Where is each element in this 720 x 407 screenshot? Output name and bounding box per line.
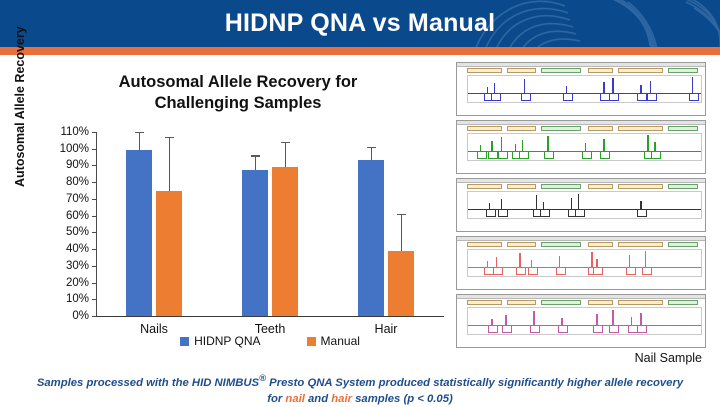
legend-label: HIDNP QNA [194,334,260,348]
egram-locus-segment [668,68,698,73]
egram-allele-callout [544,151,554,159]
egram-locus-segment [668,184,698,189]
caption-line2-b: and [305,393,331,405]
blue-dye-trace [456,62,706,116]
x-axis-line [96,316,444,317]
caption-line2-a: for [267,393,285,405]
egram-peak [612,78,613,94]
egram-locus-segment [668,126,698,131]
legend-item-manual: Manual [307,334,360,348]
y-axis-tick-label: 40% [66,243,89,255]
egram-locus-segment [618,242,663,247]
y-axis-tick-label: 20% [66,277,89,289]
caption-line2-c: samples (p < 0.05) [352,393,453,405]
egram-allele-callout [488,325,498,333]
egram-locus-segment [588,68,613,73]
error-bar [255,155,256,170]
caption-line1-a: Samples processed with the HID NIMBUS [37,377,259,389]
y-axis-line [96,132,97,316]
egram-marker-bar [457,126,705,131]
registered-mark-icon: ® [259,372,266,383]
error-bar [139,132,140,150]
bar-teeth-manual [272,167,298,316]
y-axis-tick [92,283,96,284]
egram-locus-segment [467,242,502,247]
egram-allele-callout [477,151,487,159]
egram-locus-segment [668,300,698,305]
egram-allele-callout [521,93,531,101]
bar-nails-qna [126,150,152,316]
egram-locus-segment [541,242,581,247]
egram-locus-segment [541,126,581,131]
legend-swatch [307,337,316,346]
error-bar [371,147,372,160]
green-dye-trace [456,120,706,174]
egram-locus-segment [588,184,613,189]
y-axis-tick-label: 80% [66,176,89,188]
error-bar-cap [367,147,376,148]
bar-hair-manual [388,251,414,316]
egram-header-bar [457,237,705,241]
egram-locus-segment [507,184,537,189]
egram-header-bar [457,63,705,67]
egram-plot [467,133,702,161]
egram-peak [501,137,502,152]
egram-peak [547,136,548,152]
egram-allele-callout [530,325,540,333]
bar-teeth-qna [242,170,268,316]
egram-locus-segment [618,184,663,189]
egram-locus-segment [507,242,537,247]
y-axis-tick-label: 90% [66,159,89,171]
legend-label: Manual [321,334,360,348]
caption-highlight-nail: nail [285,393,304,405]
error-bar [169,137,170,191]
red-dye-trace [456,236,706,290]
egram-marker-bar [457,184,705,189]
egram-allele-callout [651,151,661,159]
egram-locus-segment [618,68,663,73]
egram-allele-callout [519,151,529,159]
egram-header-bar [457,179,705,183]
y-axis-tick [92,216,96,217]
chart-title-line1: Autosomal Allele Recovery for [68,72,408,93]
egram-marker-bar [457,68,705,73]
egram-allele-callout [647,93,657,101]
egram-allele-callout [600,151,610,159]
egram-locus-segment [541,184,581,189]
chart-legend: HIDNP QNAManual [96,334,444,348]
egram-allele-callout [609,93,619,101]
y-axis-title: Autosomal Allele Recovery [13,26,27,187]
egram-allele-callout [593,267,603,275]
slide-caption: Samples processed with the HID NIMBUS® P… [14,371,706,407]
black-dye-trace [456,178,706,232]
egram-locus-segment [507,68,537,73]
error-bar-cap [135,132,144,133]
error-bar [285,142,286,167]
bar-hair-qna [358,160,384,316]
egram-baseline [468,93,701,94]
egram-locus-segment [618,126,663,131]
egram-locus-segment [588,300,613,305]
header-orange-rule [0,47,720,55]
page-title: HIDNP QNA vs Manual [0,0,720,47]
egram-peak [591,252,592,268]
egram-allele-callout [540,209,550,217]
error-bar-cap [251,155,260,156]
egram-plot [467,249,702,277]
error-bar-cap [281,142,290,143]
y-axis-tick [92,249,96,250]
egram-allele-callout [493,267,503,275]
y-axis-tick [92,266,96,267]
egram-locus-segment [467,126,502,131]
y-axis-tick-label: 50% [66,226,89,238]
egram-locus-segment [507,300,537,305]
error-bar-cap [165,137,174,138]
egram-allele-callout [558,325,568,333]
electropherogram-panel: Nail Sample [456,62,706,349]
egram-plot [467,75,702,103]
egram-plot [467,191,702,219]
sample-label: Nail Sample [456,351,706,365]
y-axis-tick-label: 70% [66,193,89,205]
y-axis-tick-label: 10% [66,293,89,305]
error-bar-cap [397,214,406,215]
caption-highlight-hair: hair [331,393,352,405]
chart-title: Autosomal Allele Recovery for Challengin… [68,72,408,114]
egram-allele-callout [582,151,592,159]
y-axis-tick-label: 60% [66,210,89,222]
egram-peak [612,310,613,326]
egram-peak [533,311,534,326]
egram-allele-callout [516,267,526,275]
egram-allele-callout [637,325,647,333]
y-axis-tick-label: 0% [72,310,89,322]
egram-locus-segment [588,126,613,131]
egram-allele-callout [502,325,512,333]
legend-swatch [180,337,189,346]
y-axis-tick-label: 30% [66,260,89,272]
egram-allele-callout [689,93,699,101]
egram-allele-callout [593,325,603,333]
egram-allele-callout [556,267,566,275]
y-axis-tick [92,199,96,200]
bar-nails-manual [156,191,182,316]
y-axis-tick-label: 110% [60,126,89,138]
egram-locus-segment [507,126,537,131]
y-axis-tick [92,132,96,133]
egram-header-bar [457,121,705,125]
egram-allele-callout [498,151,508,159]
egram-locus-segment [467,184,502,189]
error-bar [401,214,402,251]
caption-line1-b: Presto QNA System produced statistically… [266,377,683,389]
egram-peak [519,253,520,268]
egram-allele-callout [642,267,652,275]
egram-peak [524,79,525,94]
egram-allele-callout [626,267,636,275]
y-axis-tick-label: 100% [60,143,89,155]
y-axis-tick [92,232,96,233]
legend-item-hidnp-qna: HIDNP QNA [180,334,260,348]
egram-peak [647,135,648,152]
y-axis-tick [92,299,96,300]
bar-chart: Autosomal Allele Recovery for Challengin… [18,62,454,367]
egram-marker-bar [457,300,705,305]
y-axis-tick [92,182,96,183]
egram-allele-callout [563,93,573,101]
egram-marker-bar [457,242,705,247]
egram-peak [645,251,646,268]
egram-allele-callout [486,209,496,217]
egram-locus-segment [467,68,502,73]
egram-allele-callout [609,325,619,333]
egram-peak [692,77,693,94]
egram-header-bar [457,295,705,299]
egram-peak [578,194,579,210]
egram-allele-callout [637,209,647,217]
y-axis-tick [92,316,96,317]
egram-locus-segment [618,300,663,305]
egram-locus-segment [467,300,502,305]
egram-allele-callout [498,209,508,217]
egram-locus-segment [541,300,581,305]
egram-locus-segment [668,242,698,247]
slide-header: HIDNP QNA vs Manual [0,0,720,47]
egram-plot [467,307,702,335]
y-axis-tick [92,149,96,150]
egram-allele-callout [528,267,538,275]
egram-allele-callout [491,93,501,101]
egram-locus-segment [588,242,613,247]
chart-title-line2: Challenging Samples [68,93,408,114]
egram-locus-segment [541,68,581,73]
y-axis-tick [92,165,96,166]
plot-area: 110%100%90%80%70%60%50%40%30%20%10%0%Nai… [96,132,444,316]
egram-peak [536,195,537,210]
magenta-dye-trace [456,294,706,348]
egram-allele-callout [575,209,585,217]
